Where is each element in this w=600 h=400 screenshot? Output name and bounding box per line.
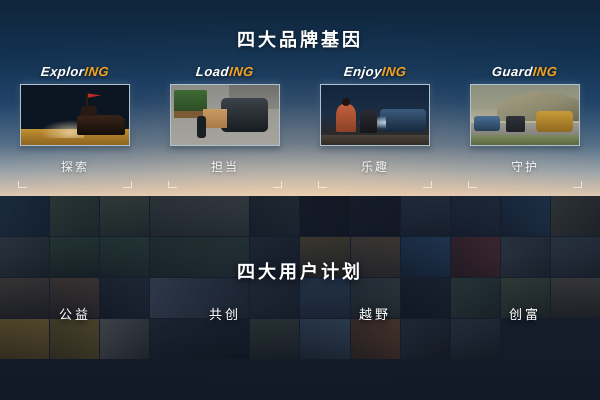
corner-bracket-right-icon xyxy=(423,181,432,188)
corner-bracket-right-icon xyxy=(123,181,132,188)
brand-card-image[interactable] xyxy=(320,84,430,146)
mosaic-tile-group-portrait-wall xyxy=(401,319,450,359)
mosaic-tile-person-arms-open-lake xyxy=(0,196,49,236)
brand-card-image[interactable] xyxy=(470,84,580,146)
brand-prefix: Load xyxy=(195,64,230,79)
program-label: 创富 xyxy=(509,307,541,322)
cargo-box-shape xyxy=(203,109,227,128)
mosaic-tile-group-under-canopy xyxy=(250,196,299,236)
mosaic-tile-officer-portrait xyxy=(451,196,500,236)
user-program-title: 四大用户计划 xyxy=(0,258,600,284)
program-item-gongyi[interactable]: 公益 xyxy=(0,304,150,324)
mosaic-tile-man-portrait-grass xyxy=(150,196,249,236)
brand-caption-enjoy: 乐趣 xyxy=(300,158,450,176)
program-label: 越野 xyxy=(359,307,391,322)
night-campfire-couple-photo xyxy=(321,85,429,145)
person-orange-shape xyxy=(336,104,355,132)
pickup-loading-boxes-photo xyxy=(171,85,279,145)
caption-text: 担当 xyxy=(211,160,239,174)
bracket-group xyxy=(450,178,600,190)
planter-shape xyxy=(174,90,206,113)
brand-suffix: ING xyxy=(532,64,558,79)
mosaic-tile-camper-yellow-tent xyxy=(100,196,149,236)
blue-car-shape xyxy=(474,116,500,130)
mosaic-tile-uniform-man-closeup xyxy=(401,196,450,236)
corner-bracket-left-icon xyxy=(18,181,27,188)
mosaic-tile-grassland-sunset xyxy=(551,196,600,236)
bracket-group xyxy=(300,178,450,190)
pickup-truck-shape xyxy=(221,98,269,132)
bracket-group xyxy=(0,178,150,190)
roadside-rescue-convoy-photo xyxy=(471,85,579,145)
corner-bracket-right-icon xyxy=(573,181,582,188)
brand-label: LoadING xyxy=(195,64,254,79)
brand-gene-title: 四大品牌基因 xyxy=(0,26,600,52)
program-item-chuangfu[interactable]: 创富 xyxy=(450,304,600,324)
mosaic-tile-yellow-truck-rocks xyxy=(0,319,49,359)
offroad-vehicle-shape xyxy=(77,115,125,135)
mosaic-tile-crowd-night-event xyxy=(300,196,349,236)
mosaic-tile-orange-tent-camp xyxy=(351,319,400,359)
desert-offroad-truck-photo xyxy=(21,85,129,145)
brand-suffix: ING xyxy=(381,64,407,79)
caption-text: 守护 xyxy=(511,160,539,174)
user-program-section: 四大用户计划 公益 共创 越野 创富 xyxy=(0,196,600,400)
brand-suffix: ING xyxy=(84,64,110,79)
promo-poster: 四大品牌基因 ExplorING LoadING xyxy=(0,0,600,400)
brand-label: GuardING xyxy=(491,64,558,79)
program-item-yueye[interactable]: 越野 xyxy=(300,304,450,324)
user-program-row: 公益 共创 越野 创富 xyxy=(0,304,600,324)
people-group-shape xyxy=(506,116,525,132)
mosaic-tile-lake-mountain-pano xyxy=(300,319,349,359)
person-dark-shape xyxy=(360,109,377,133)
mosaic-tile-vehicle-convoy-dusk xyxy=(451,319,500,359)
corner-bracket-right-icon xyxy=(273,181,282,188)
mosaic-tile-crowd-night-stage xyxy=(351,196,400,236)
caption-text: 乐趣 xyxy=(361,160,389,174)
bracket-group xyxy=(150,178,300,190)
corner-bracket-left-icon xyxy=(168,181,177,188)
brand-suffix: ING xyxy=(228,64,254,79)
blue-truck-shape xyxy=(380,109,425,132)
mosaic-tile-blue-shirt-man xyxy=(501,196,550,236)
brand-prefix: Explor xyxy=(40,64,85,79)
mosaic-tile-river-rocks-scene xyxy=(250,319,299,359)
brand-caption-load: 担当 xyxy=(150,158,300,176)
corner-bracket-left-icon xyxy=(318,181,327,188)
brand-caption-guard: 守护 xyxy=(450,158,600,176)
ground-shape xyxy=(321,135,429,145)
caption-text: 探索 xyxy=(61,160,89,174)
brand-caption-explore: 探索 xyxy=(0,158,150,176)
mosaic-tile-team-photo-banner xyxy=(150,319,249,359)
tan-truck-shape xyxy=(536,111,573,131)
brand-caption-row: 探索 担当 乐趣 守护 xyxy=(0,158,600,176)
worker-shape xyxy=(197,116,206,138)
program-item-gongchuang[interactable]: 共创 xyxy=(150,304,300,324)
brand-card-image[interactable] xyxy=(170,84,280,146)
corner-bracket-row xyxy=(0,178,600,190)
brand-card-image[interactable] xyxy=(20,84,130,146)
corner-bracket-left-icon xyxy=(468,181,477,188)
brand-prefix: Guard xyxy=(491,64,533,79)
mosaic-tile-two-people-field-hill xyxy=(50,196,99,236)
grass-shape xyxy=(471,135,579,145)
photo-mosaic-grid xyxy=(0,196,600,400)
mosaic-tile-white-suv-desert xyxy=(100,319,149,359)
brand-label: EnjoyING xyxy=(343,64,407,79)
brand-gene-section: 四大品牌基因 ExplorING LoadING xyxy=(0,0,600,196)
mosaic-tile-offroad-yellow-rear xyxy=(50,319,99,359)
program-label: 公益 xyxy=(59,307,91,322)
brand-prefix: Enjoy xyxy=(343,64,382,79)
brand-label: ExplorING xyxy=(40,64,110,79)
program-label: 共创 xyxy=(209,307,241,322)
